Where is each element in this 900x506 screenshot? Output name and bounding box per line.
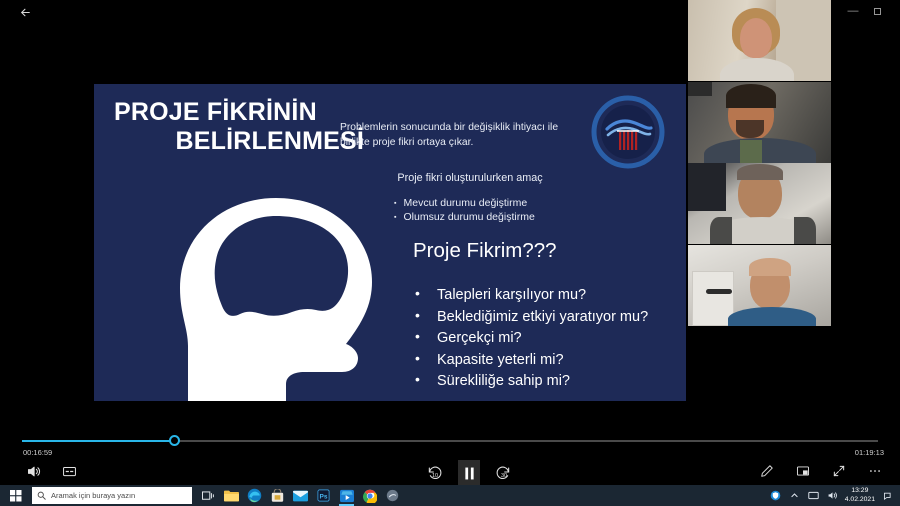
slide-question-heading: Proje Fikrim??? — [413, 239, 557, 263]
participant-video-tile[interactable] — [688, 82, 831, 163]
microsoft-store-icon[interactable] — [269, 487, 286, 504]
mail-icon[interactable] — [292, 487, 309, 504]
pause-button[interactable] — [458, 460, 480, 486]
seek-bar[interactable] — [22, 440, 878, 442]
playback-controls: 10 30 — [426, 460, 512, 486]
list-item: Sürekliliğe sahip mi? — [413, 372, 686, 391]
search-placeholder: Aramak için buraya yazın — [51, 491, 135, 500]
presentation-slide: PROJE FİKRİNİN BELİRLENMESİ — [94, 84, 686, 401]
captions-icon[interactable] — [60, 462, 78, 480]
list-item: Kapasite yeterli mi? — [413, 351, 686, 370]
forward-amount-label: 30 — [501, 473, 507, 479]
show-hidden-icons-icon[interactable] — [788, 489, 801, 502]
list-item: Talepleri karşılıyor mu? — [413, 286, 686, 305]
video-player-icon[interactable] — [338, 487, 355, 504]
taskbar-app-icons: Ps — [200, 487, 401, 504]
slide-title-line1: PROJE FİKRİNİN — [114, 98, 317, 126]
task-view-icon[interactable] — [200, 487, 217, 504]
chrome-browser-icon[interactable] — [361, 487, 378, 504]
clock-date: 4.02.2021 — [845, 496, 875, 504]
participant-video-tile[interactable] — [688, 245, 831, 326]
left-controls — [24, 462, 78, 480]
list-item: Mevcut durumu değiştirme — [394, 196, 684, 210]
file-explorer-icon[interactable] — [223, 487, 240, 504]
network-icon[interactable] — [807, 489, 820, 502]
volume-icon[interactable] — [24, 462, 42, 480]
system-tray: 13:29 4.02.2021 — [769, 487, 900, 504]
app-icon[interactable] — [384, 487, 401, 504]
seek-bar-thumb[interactable] — [169, 435, 180, 446]
right-controls — [758, 462, 884, 480]
search-input[interactable]: Aramak için buraya yazın — [32, 487, 192, 504]
notifications-icon[interactable] — [881, 489, 894, 502]
security-icon[interactable] — [769, 489, 782, 502]
slide-purpose-heading: Proje fikri oluşturulurken amaç — [340, 172, 600, 184]
list-item: Beklediğimiz etkiyi yaratıyor mu? — [413, 308, 686, 327]
brain-head-silhouette-icon — [136, 196, 426, 401]
slide-question-list: Talepleri karşılıyor mu? Beklediğimiz et… — [413, 286, 686, 394]
slide-title: PROJE FİKRİNİN BELİRLENMESİ — [114, 98, 364, 156]
clock-time: 13:29 — [845, 487, 875, 495]
participant-video-tile[interactable] — [688, 0, 831, 81]
participant-video-strip — [688, 0, 831, 326]
more-options-icon[interactable] — [866, 462, 884, 480]
elapsed-time: 00:16:59 — [23, 448, 52, 457]
forward-30-button[interactable]: 30 — [494, 464, 512, 482]
clock[interactable]: 13:29 4.02.2021 — [845, 487, 875, 504]
list-item: Olumsuz durumu değiştirme — [394, 210, 684, 224]
university-emblem-icon — [591, 95, 665, 169]
slide-title-line2: BELİRLENMESİ — [114, 127, 364, 156]
volume-icon[interactable] — [826, 489, 839, 502]
participant-video-tile[interactable] — [688, 163, 831, 244]
back-arrow-icon[interactable] — [12, 2, 38, 22]
minimize-button[interactable]: — — [842, 2, 864, 20]
screen-root: — PROJE FİKRİNİN BELİRLENMESİ — [0, 0, 900, 506]
fullscreen-icon[interactable] — [830, 462, 848, 480]
pen-icon[interactable] — [758, 462, 776, 480]
start-button[interactable] — [0, 485, 32, 506]
player-controls-bar: 00:16:59 01:19:13 10 — [0, 430, 900, 485]
maximize-button[interactable] — [866, 2, 888, 20]
list-item: Gerçekçi mi? — [413, 329, 686, 348]
slide-purpose-list: Mevcut durumu değiştirme Olumsuz durumu … — [394, 196, 684, 224]
seek-bar-progress — [22, 440, 176, 442]
photoshop-icon[interactable]: Ps — [315, 487, 332, 504]
total-duration: 01:19:13 — [855, 448, 884, 457]
video-player: — PROJE FİKRİNİN BELİRLENMESİ — [0, 0, 900, 485]
rewind-10-button[interactable]: 10 — [426, 464, 444, 482]
mini-player-icon[interactable] — [794, 462, 812, 480]
windows-taskbar: Aramak için buraya yazın — [0, 485, 900, 506]
search-icon — [37, 491, 46, 500]
edge-browser-icon[interactable] — [246, 487, 263, 504]
slide-intro-text: Problemlerin sonucunda bir değişiklik ih… — [340, 121, 585, 151]
rewind-amount-label: 10 — [432, 473, 438, 479]
svg-text:Ps: Ps — [320, 493, 328, 500]
